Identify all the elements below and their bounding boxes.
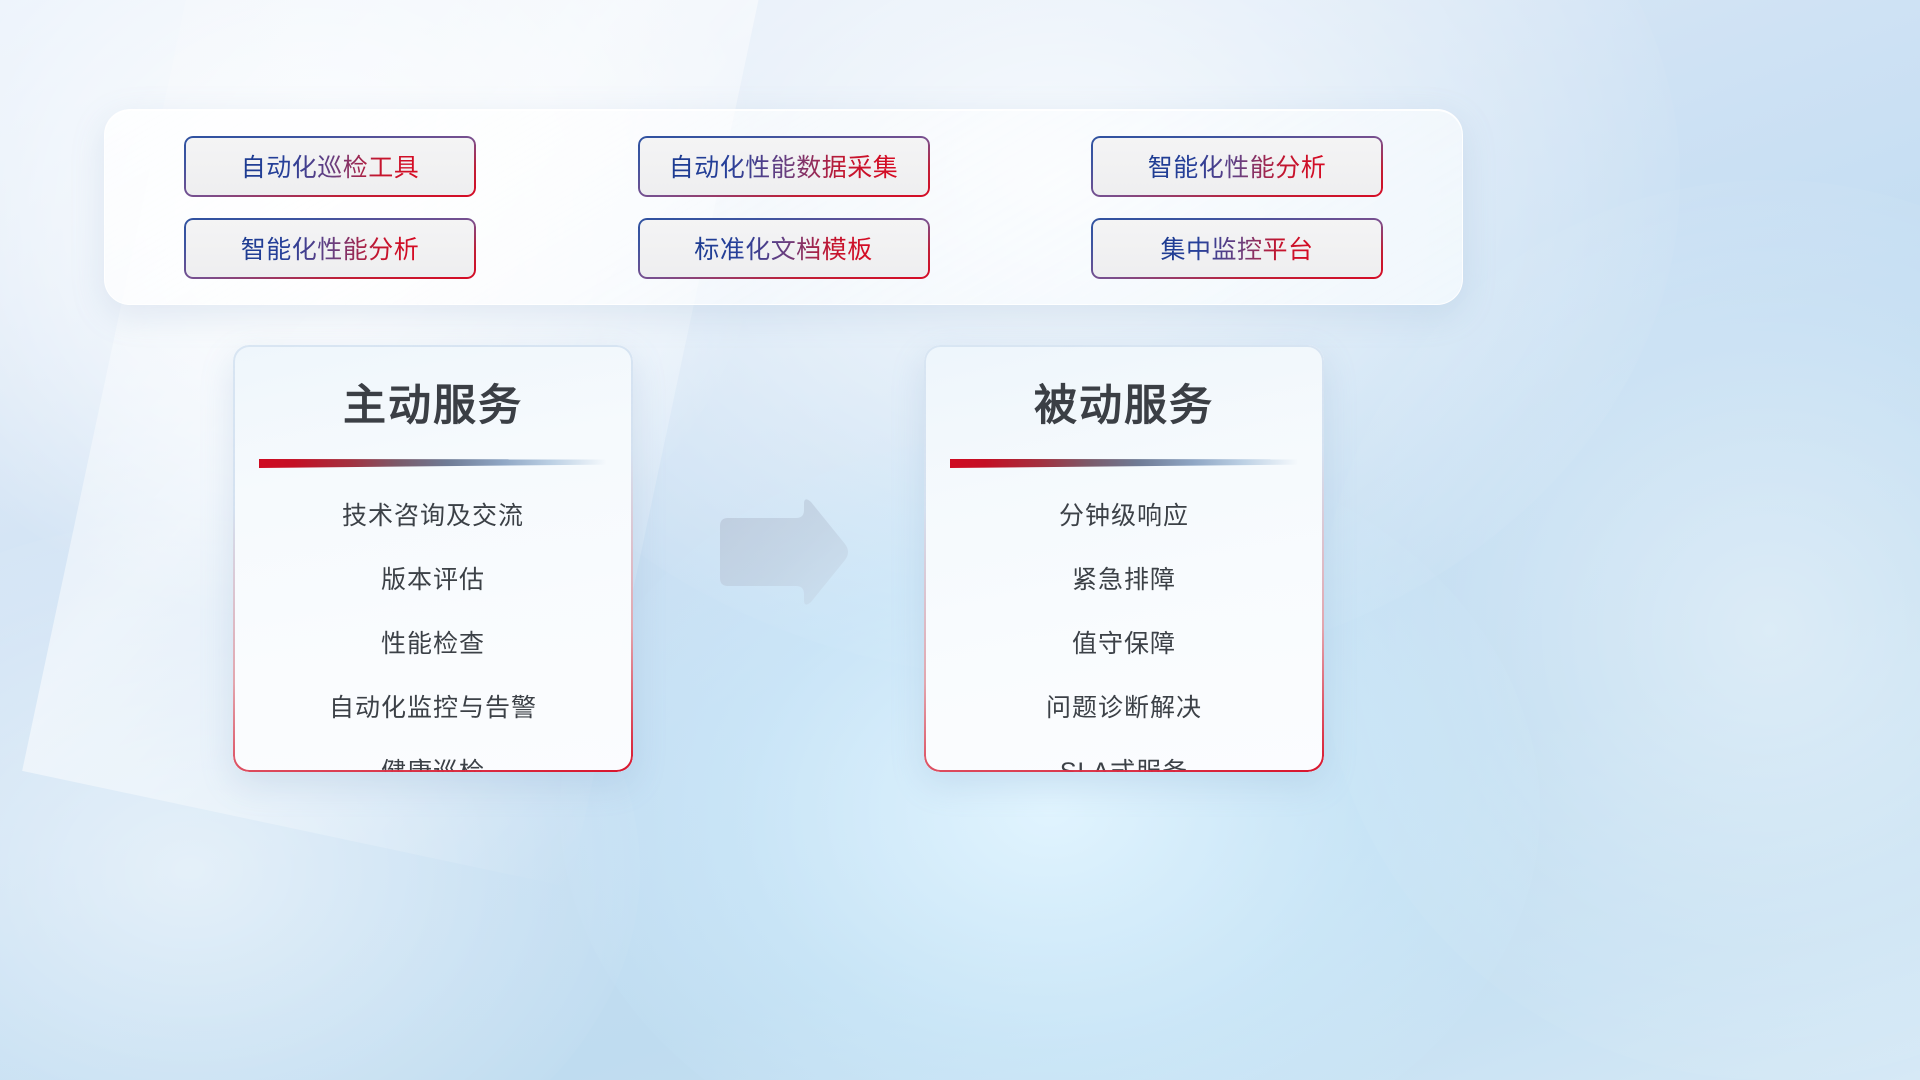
tag-label: 智能化性能分析 [241, 230, 420, 266]
tag-automated-performance-data-collection[interactable]: 自动化性能数据采集 [638, 136, 930, 197]
tag-label: 自动化巡检工具 [241, 148, 420, 184]
tag-standardized-document-template[interactable]: 标准化文档模板 [638, 218, 930, 279]
card-title: 主动服务 [233, 371, 633, 433]
card-item-list: 技术咨询及交流 版本评估 性能检查 自动化监控与告警 健康巡检 [233, 496, 633, 772]
tag-label: 智能化性能分析 [1148, 148, 1327, 184]
divider-wedge [950, 459, 1298, 468]
card-title-divider [259, 459, 607, 468]
card-title-divider [950, 459, 1298, 468]
tag-label: 标准化文档模板 [694, 230, 873, 266]
tag-automation-inspection-tool[interactable]: 自动化巡检工具 [184, 136, 476, 197]
list-item: 分钟级响应 [1059, 496, 1189, 532]
divider-wedge [259, 459, 607, 468]
list-item: 版本评估 [381, 560, 485, 596]
slide-canvas: 自动化巡检工具 自动化性能数据采集 智能化性能分析 智能化性能分析 标准化文档模… [0, 0, 1920, 1080]
list-item: 健康巡检 [381, 752, 485, 772]
tag-row-1: 自动化巡检工具 自动化性能数据采集 智能化性能分析 [184, 136, 1383, 197]
list-item: 性能检查 [381, 624, 485, 660]
tag-row-2: 智能化性能分析 标准化文档模板 集中监控平台 [184, 218, 1383, 279]
tag-intelligent-performance-analysis-bottom[interactable]: 智能化性能分析 [184, 218, 476, 279]
list-item: SLA式服务 [1060, 752, 1188, 772]
list-item: 值守保障 [1072, 624, 1176, 660]
list-item: 问题诊断解决 [1046, 688, 1202, 724]
service-card-reactive: 被动服务 分钟级响应 紧急排障 值守保障 问题诊断解决 SLA式服务 [924, 345, 1324, 772]
card-title: 被动服务 [924, 371, 1324, 433]
tag-label: 自动化性能数据采集 [669, 148, 899, 184]
tag-centralized-monitoring-platform[interactable]: 集中监控平台 [1091, 218, 1383, 279]
list-item: 紧急排障 [1072, 560, 1176, 596]
capability-tag-panel: 自动化巡检工具 自动化性能数据采集 智能化性能分析 智能化性能分析 标准化文档模… [104, 109, 1463, 305]
list-item: 技术咨询及交流 [342, 496, 524, 532]
tag-label: 集中监控平台 [1160, 230, 1313, 266]
service-card-proactive: 主动服务 技术咨询及交流 版本评估 性能检查 自动化监控与告警 健康巡检 [233, 345, 633, 772]
list-item: 自动化监控与告警 [329, 688, 537, 724]
card-item-list: 分钟级响应 紧急排障 值守保障 问题诊断解决 SLA式服务 [924, 496, 1324, 772]
right-arrow-icon [712, 498, 852, 606]
background-glow-right [1320, 180, 1920, 1080]
tag-intelligent-performance-analysis-top[interactable]: 智能化性能分析 [1091, 136, 1383, 197]
